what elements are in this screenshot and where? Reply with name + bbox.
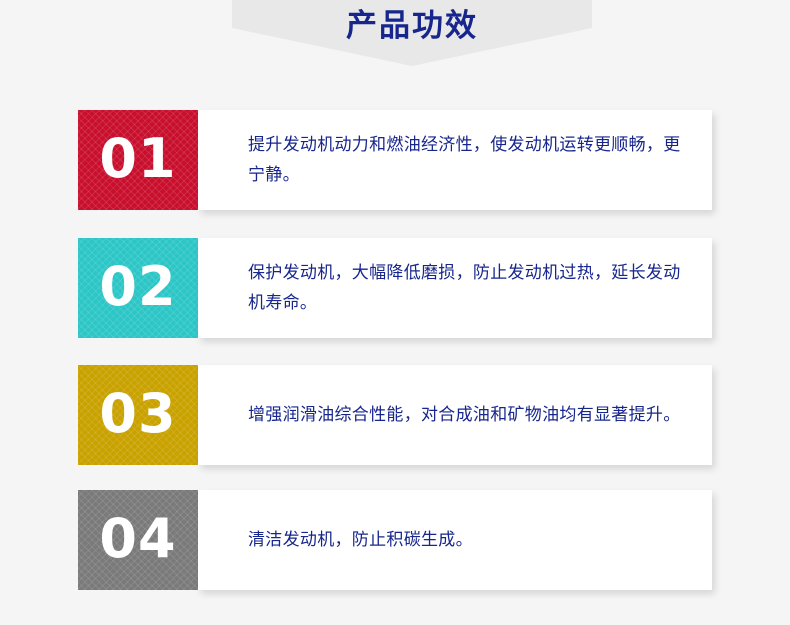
feature-number-box: 04 bbox=[78, 490, 198, 590]
page-header: 产品功效 bbox=[0, 0, 790, 85]
feature-row: 02 保护发动机，大幅降低磨损，防止发动机过热，延长发动机寿命。 bbox=[78, 238, 712, 338]
feature-text: 保护发动机，大幅降低磨损，防止发动机过热，延长发动机寿命。 bbox=[248, 238, 696, 338]
feature-number-box: 02 bbox=[78, 238, 198, 338]
feature-text-panel: 清洁发动机，防止积碳生成。 bbox=[198, 490, 712, 590]
feature-text-panel: 保护发动机，大幅降低磨损，防止发动机过热，延长发动机寿命。 bbox=[198, 238, 712, 338]
page-title: 产品功效 bbox=[232, 0, 592, 52]
feature-text: 清洁发动机，防止积碳生成。 bbox=[248, 490, 696, 590]
feature-number: 01 bbox=[78, 110, 198, 210]
feature-text-panel: 增强润滑油综合性能，对合成油和矿物油均有显著提升。 bbox=[198, 365, 712, 465]
feature-text-panel: 提升发动机动力和燃油经济性，使发动机运转更顺畅，更宁静。 bbox=[198, 110, 712, 210]
feature-row: 01 提升发动机动力和燃油经济性，使发动机运转更顺畅，更宁静。 bbox=[78, 110, 712, 210]
feature-text: 提升发动机动力和燃油经济性，使发动机运转更顺畅，更宁静。 bbox=[248, 110, 696, 210]
feature-number: 02 bbox=[78, 238, 198, 338]
feature-text: 增强润滑油综合性能，对合成油和矿物油均有显著提升。 bbox=[248, 365, 696, 465]
feature-number-box: 03 bbox=[78, 365, 198, 465]
feature-row: 03 增强润滑油综合性能，对合成油和矿物油均有显著提升。 bbox=[78, 365, 712, 465]
feature-number: 04 bbox=[78, 490, 198, 590]
feature-row: 04 清洁发动机，防止积碳生成。 bbox=[78, 490, 712, 590]
feature-number-box: 01 bbox=[78, 110, 198, 210]
feature-number: 03 bbox=[78, 365, 198, 465]
